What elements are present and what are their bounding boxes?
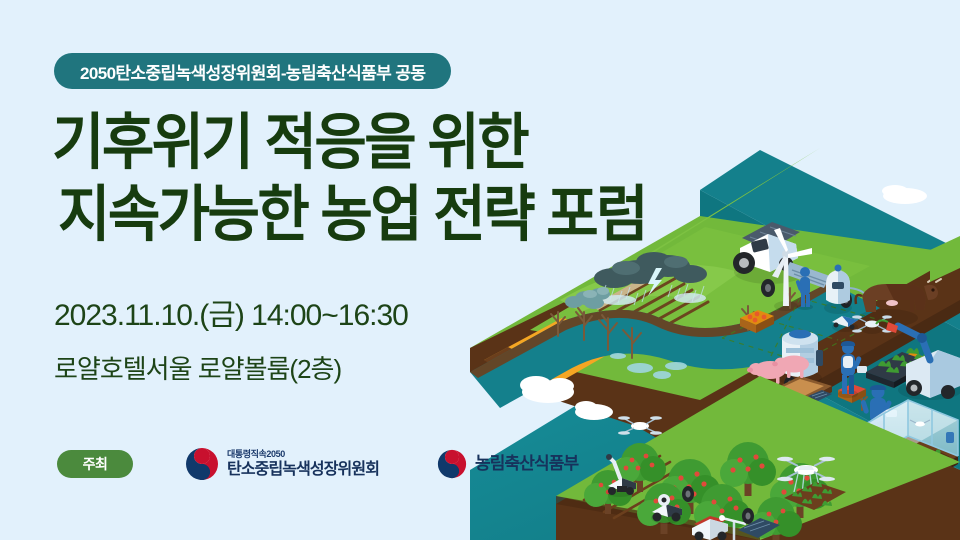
title-line-2: 지속가능한 농업 전략 포럼 (58, 176, 952, 253)
organization-name: 탄소중립녹색성장위원회 (227, 460, 379, 480)
event-venue: 로얄호텔서울 로얄볼룸(2층) (54, 352, 408, 386)
organization-ministry-of-agriculture: 농림축산식품부 (437, 449, 578, 479)
organization-superscript: 대통령직속2050 (227, 449, 379, 460)
forum-poster: 2050탄소중립녹색성장위원회-농림축산식품부 공동 기후위기 적응을 위한 지… (0, 0, 960, 540)
page-title: 기후위기 적응을 위한 지속가능한 농업 전략 포럼 (52, 104, 952, 248)
organization-text: 농림축산식품부 (475, 454, 578, 474)
organization-carbon-neutrality-committee: 대통령직속2050 탄소중립녹색성장위원회 (185, 447, 379, 481)
event-details: 2023.11.10.(금) 14:00~16:30 로얄호텔서울 로얄볼룸(2… (54, 296, 408, 386)
event-datetime: 2023.11.10.(금) 14:00~16:30 (54, 296, 408, 336)
taegeuk-emblem-icon (185, 447, 219, 481)
organization-name: 농림축산식품부 (475, 454, 578, 474)
joint-host-badge: 2050탄소중립녹색성장위원회-농림축산식품부 공동 (54, 53, 451, 89)
host-label-pill: 주최 (57, 450, 133, 478)
footer-hosts: 주최 대통령직속2050 탄소중립녹색성장위원회 (57, 447, 578, 481)
joint-host-badge-label: 2050탄소중립녹색성장위원회-농림축산식품부 공동 (80, 59, 425, 84)
organization-text: 대통령직속2050 탄소중립녹색성장위원회 (227, 449, 379, 480)
taegeuk-emblem-icon (437, 449, 467, 479)
title-line-1: 기후위기 적응을 위한 (52, 104, 952, 181)
host-label-text: 주최 (83, 454, 108, 474)
